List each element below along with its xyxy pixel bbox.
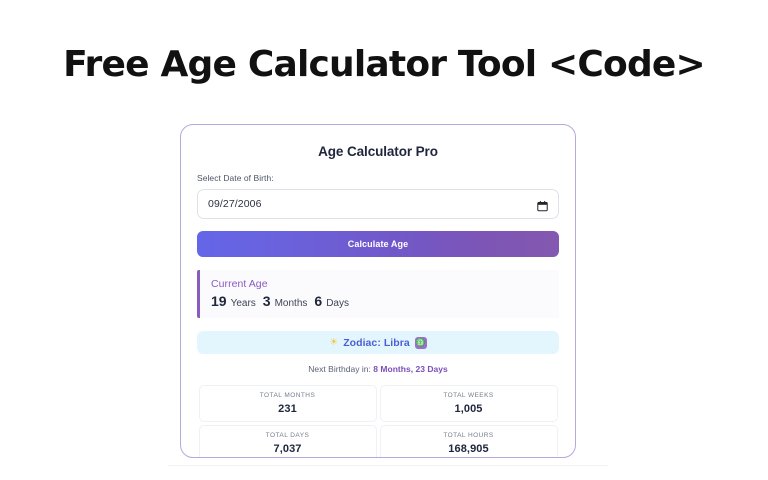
stat-value: 231 — [278, 403, 297, 415]
page-divider — [168, 465, 608, 466]
age-months-unit: Months — [275, 298, 308, 309]
date-of-birth-value: 09/27/2006 — [208, 198, 262, 210]
calculate-age-button[interactable]: Calculate Age — [197, 231, 559, 257]
zodiac-banner: ☀ Zodiac: Libra ♎ — [197, 331, 559, 354]
current-age-panel: Current Age 19 Years 3 Months 6 Days — [197, 270, 559, 318]
libra-zodiac-icon: ♎ — [415, 337, 427, 349]
stat-label: TOTAL HOURS — [443, 432, 493, 439]
stat-value: 168,905 — [448, 443, 488, 455]
age-days-value: 6 — [314, 293, 322, 309]
sun-icon: ☀ — [329, 338, 338, 348]
stat-label: TOTAL WEEKS — [443, 392, 493, 399]
stat-value: 7,037 — [273, 443, 301, 455]
age-calculator-card: Age Calculator Pro Select Date of Birth:… — [180, 124, 576, 458]
card-title: Age Calculator Pro — [197, 144, 559, 159]
current-age-breakdown: 19 Years 3 Months 6 Days — [211, 293, 559, 309]
stat-label: TOTAL MONTHS — [260, 392, 315, 399]
stat-value: 1,005 — [454, 403, 482, 415]
zodiac-label: Zodiac: Libra — [343, 337, 410, 349]
stat-card: TOTAL DAYS 7,037 — [199, 425, 377, 459]
age-months-value: 3 — [263, 293, 271, 309]
next-birthday-prefix: Next Birthday in: — [308, 364, 371, 374]
stats-grid: TOTAL MONTHS 231 TOTAL WEEKS 1,005 TOTAL… — [197, 383, 559, 458]
page-title: Free Age Calculator Tool <Code> — [0, 44, 768, 85]
stat-label: TOTAL DAYS — [266, 432, 310, 439]
date-of-birth-input[interactable]: 09/27/2006 — [197, 189, 559, 219]
current-age-heading: Current Age — [211, 278, 559, 290]
stat-card: TOTAL MONTHS 231 — [199, 385, 377, 422]
page-root: Free Age Calculator Tool <Code> Age Calc… — [0, 0, 768, 480]
date-of-birth-label: Select Date of Birth: — [197, 173, 559, 183]
stat-card: TOTAL WEEKS 1,005 — [380, 385, 558, 422]
stat-card: TOTAL HOURS 168,905 — [380, 425, 558, 459]
age-days-unit: Days — [326, 298, 349, 309]
age-years-value: 19 — [211, 293, 227, 309]
next-birthday-text: Next Birthday in: 8 Months, 23 Days — [197, 364, 559, 374]
next-birthday-value: 8 Months, 23 Days — [373, 364, 448, 374]
age-years-unit: Years — [231, 298, 256, 309]
calendar-icon[interactable] — [537, 199, 548, 210]
